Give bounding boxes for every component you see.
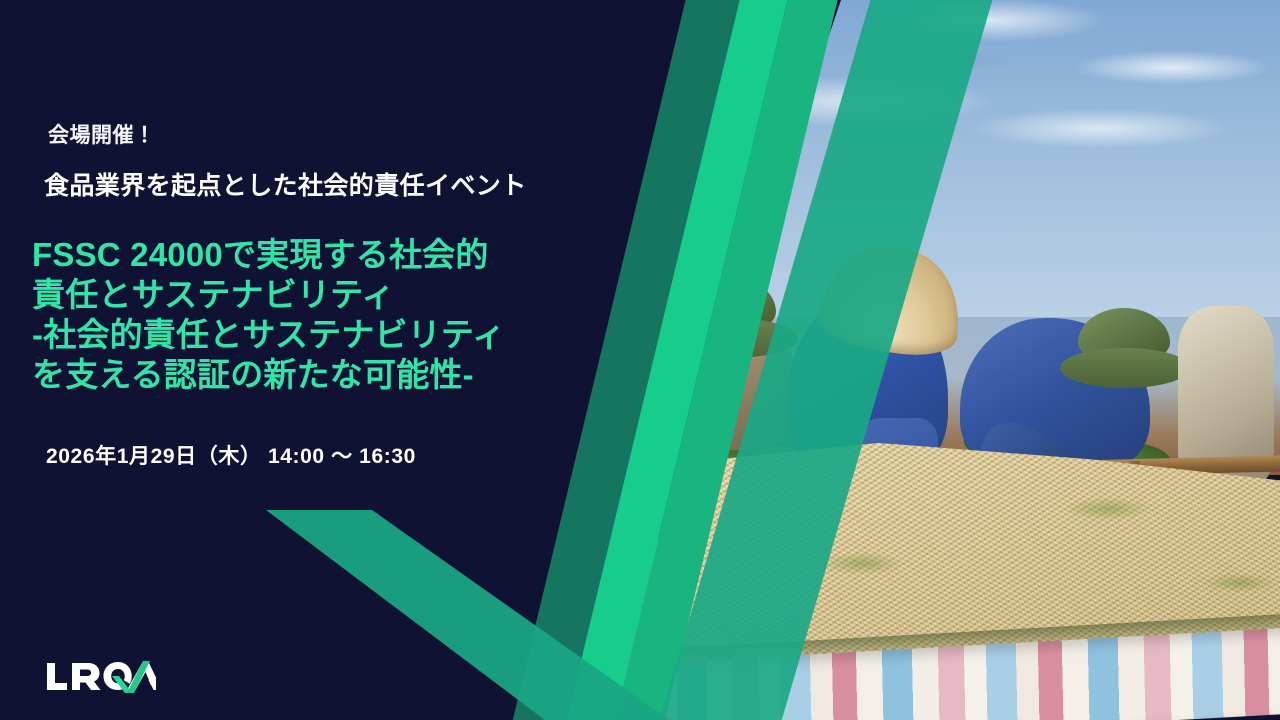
event-headline: FSSC 24000で実現する社会的 責任とサステナビリティ -社会的責任とサス… [32, 235, 632, 395]
green-bucket-hat2-brim [1060, 348, 1190, 388]
headline-line-3: -社会的責任とサステナビリティ [32, 315, 632, 355]
lrqa-logo[interactable] [44, 656, 156, 698]
headline-line-2: 責任とサステナビリティ [32, 275, 632, 315]
event-banner: 会場開催！ 食品業界を起点とした社会的責任イベント FSSC 24000で実現す… [0, 0, 1280, 720]
event-datetime: 2026年1月29日（木） 14:00 ～ 16:30 [46, 440, 416, 470]
headline-line-4: を支える認証の新たな可能性- [32, 355, 632, 395]
banner-text-block: 会場開催！ 食品業界を起点とした社会的責任イベント FSSC 24000で実現す… [0, 0, 660, 720]
event-kicker-line-2: 食品業界を起点とした社会的責任イベント [44, 166, 527, 202]
headline-line-1: FSSC 24000で実現する社会的 [32, 235, 632, 275]
event-kicker-line-1: 会場開催！ [48, 119, 156, 149]
